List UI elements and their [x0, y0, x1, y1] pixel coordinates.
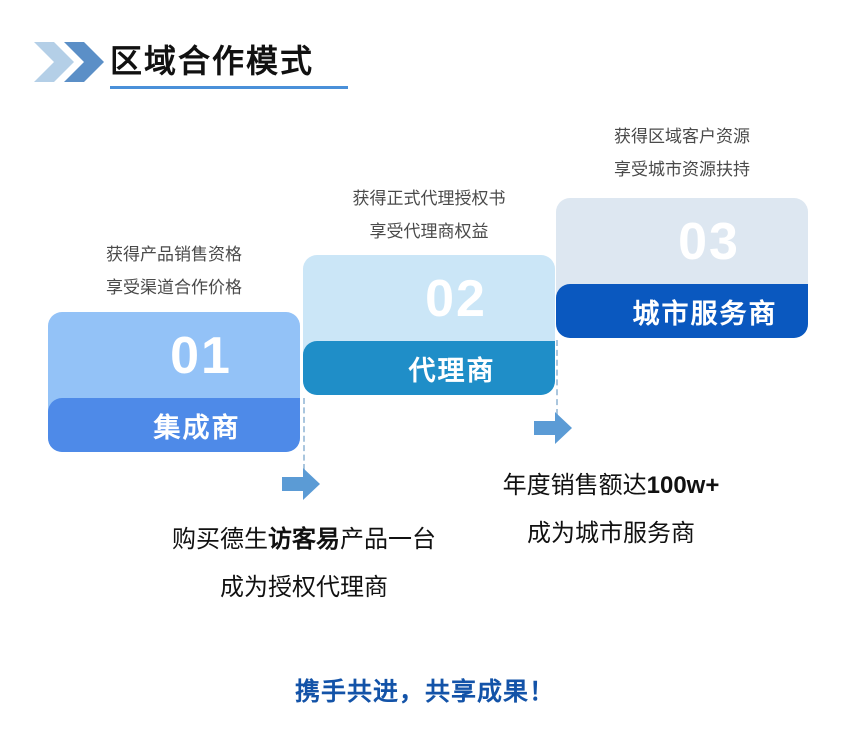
step-03-caption: 获得区域客户资源 享受城市资源扶持 — [556, 120, 808, 186]
connector-arrow-1-icon — [282, 468, 320, 500]
connector-dashed-line-2 — [556, 340, 558, 415]
step-03-role-label: 城市服务商 — [587, 292, 778, 331]
transition-1-line-1: 购买德生访客易产品一台 — [148, 516, 460, 564]
step-03-caption-line-1: 获得区域客户资源 — [556, 120, 808, 153]
step-card-01[interactable]: 01 集成商 — [48, 312, 300, 452]
transition-2-line-2: 成为城市服务商 — [455, 510, 767, 558]
footer-tagline: 携手共进，共享成果！ — [0, 672, 850, 708]
page-header: 区域合作模式 — [0, 0, 850, 110]
step-02-caption-line-1: 获得正式代理授权书 — [303, 182, 555, 215]
step-03-footer: 城市服务商 — [556, 284, 808, 338]
double-chevron-icon — [34, 42, 106, 82]
page-title: 区域合作模式 — [110, 40, 314, 82]
connector-dashed-line-1 — [303, 398, 305, 470]
transition-1-prefix: 购买德生 — [172, 526, 268, 553]
step-card-02[interactable]: 02 代理商 — [303, 255, 555, 395]
step-03-caption-line-2: 享受城市资源扶持 — [556, 153, 808, 186]
step-03-number: 03 — [556, 212, 808, 272]
step-02-caption-line-2: 享受代理商权益 — [303, 215, 555, 248]
transition-description-2: 年度销售额达100w+ 成为城市服务商 — [455, 462, 767, 558]
step-02-role-label: 代理商 — [363, 349, 496, 388]
step-card-03[interactable]: 03 城市服务商 — [556, 198, 808, 338]
transition-1-suffix: 产品一台 — [340, 526, 436, 553]
transition-1-line-2: 成为授权代理商 — [148, 564, 460, 612]
transition-1-highlight: 访客易 — [268, 526, 340, 553]
connector-arrow-2-icon — [534, 412, 572, 444]
step-01-role-label: 集成商 — [108, 406, 241, 445]
step-02-number: 02 — [303, 269, 555, 329]
transition-2-prefix: 年度销售额达 — [503, 472, 647, 499]
step-02-footer: 代理商 — [303, 341, 555, 395]
step-02-caption: 获得正式代理授权书 享受代理商权益 — [303, 182, 555, 248]
title-underline — [110, 86, 348, 89]
step-01-caption: 获得产品销售资格 享受渠道合作价格 — [48, 238, 300, 304]
step-01-caption-line-2: 享受渠道合作价格 — [48, 271, 300, 304]
transition-2-line-1: 年度销售额达100w+ — [455, 462, 767, 510]
step-01-number: 01 — [48, 326, 300, 386]
step-01-footer: 集成商 — [48, 398, 300, 452]
step-01-caption-line-1: 获得产品销售资格 — [48, 238, 300, 271]
transition-2-highlight: 100w+ — [647, 472, 720, 499]
transition-description-1: 购买德生访客易产品一台 成为授权代理商 — [148, 516, 460, 612]
